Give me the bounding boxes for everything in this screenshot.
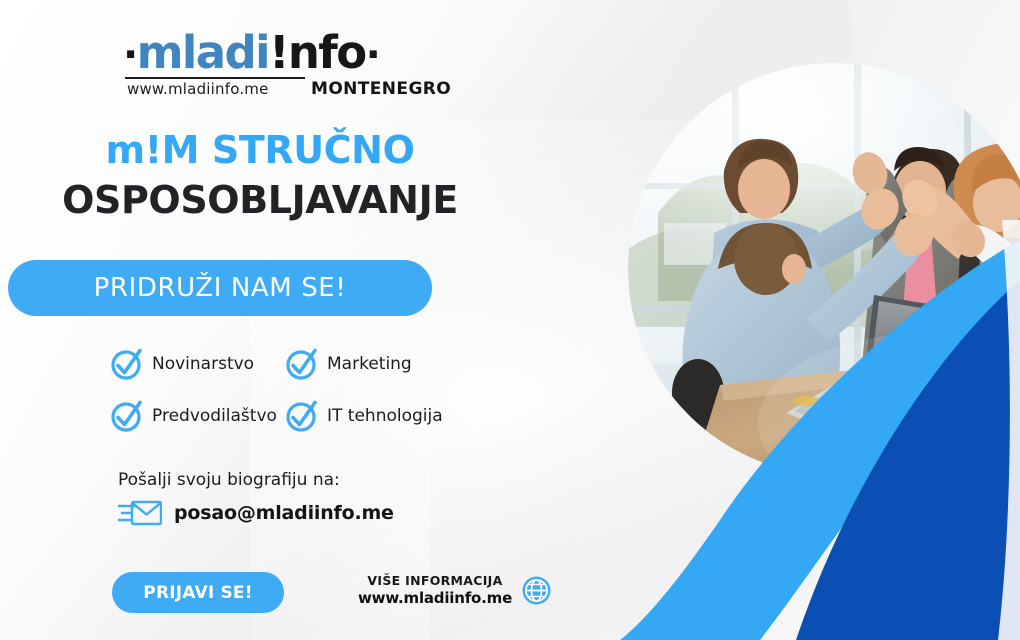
team-photo [628,63,1020,475]
check-circle-icon [110,399,144,433]
headline-line-2: OSPOSOBLJAVANJE [0,179,520,222]
headline: m!M STRUČNO OSPOSOBLJAVANJE [0,130,520,222]
checklist-row: Novinarstvo Marketing [110,338,510,390]
email-block: Pošalji svoju biografiju na: posao@mladi… [118,470,394,528]
checklist-item-it-tehnologija: IT tehnologija [285,399,443,433]
checklist-label: Novinarstvo [152,354,254,374]
checklist-label: Marketing [327,354,412,374]
program-checklist: Novinarstvo Marketing [110,338,510,442]
globe-icon[interactable] [521,575,552,606]
mladiinfo-logo: ·mladi!nfo· www.mladiinfo.me MONTENEGRO [123,30,398,98]
logo-text-mladi: mladi [137,26,269,79]
check-circle-icon [285,399,319,433]
logo-wordmark: ·mladi!nfo· [123,30,398,75]
logo-text-nfo: nfo [288,26,366,79]
checklist-item-predvodilastvo: Predvodilaštvo [110,399,285,433]
logo-country: MONTENEGRO [311,79,451,99]
join-us-button[interactable]: PRIDRUŽI NAM SE! [8,260,432,316]
email-line: posao@mladiinfo.me [118,498,394,528]
checklist-item-novinarstvo: Novinarstvo [110,347,285,381]
logo-url: www.mladiinfo.me [127,80,269,98]
headline-line-1: m!M STRUČNO [0,130,520,171]
email-prompt: Pošalji svoju biografiju na: [118,470,394,490]
more-info-label: VIŠE INFORMACIJA [358,573,512,589]
check-circle-icon [285,347,319,381]
checklist-row: Predvodilaštvo IT tehnologija [110,390,510,442]
checklist-item-marketing: Marketing [285,347,412,381]
checklist-label: IT tehnologija [327,406,443,426]
apply-button[interactable]: PRIJAVI SE! [112,572,284,613]
checklist-label: Predvodilaštvo [152,406,277,426]
more-info-url[interactable]: www.mladiinfo.me [358,589,512,608]
envelope-icon [118,498,162,528]
logo-dot-left: · [123,32,137,78]
check-circle-icon [110,347,144,381]
more-info-block[interactable]: VIŠE INFORMACIJA www.mladiinfo.me [358,573,552,607]
poster-canvas: ·mladi!nfo· www.mladiinfo.me MONTENEGRO … [0,0,1020,640]
logo-divider [125,77,305,79]
more-info-text: VIŠE INFORMACIJA www.mladiinfo.me [358,573,512,607]
logo-dot-right: · [366,32,380,78]
email-address[interactable]: posao@mladiinfo.me [174,502,394,524]
logo-text-bang: ! [269,26,288,79]
